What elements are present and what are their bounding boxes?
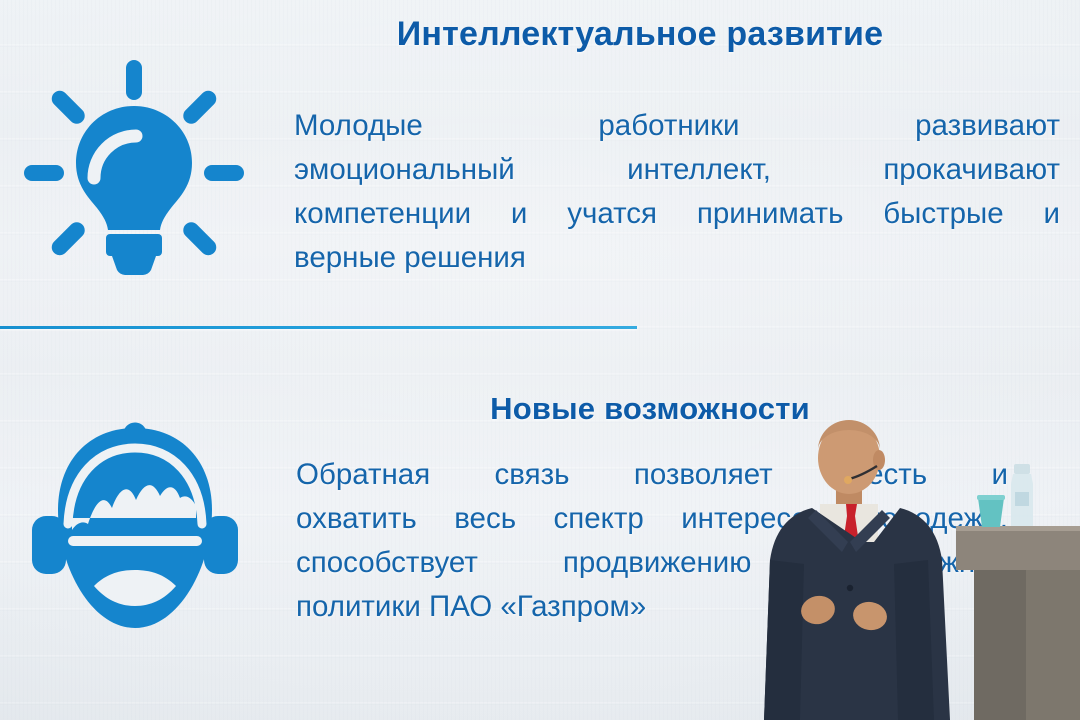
body-line: эмоциональный интеллект, прокачивают bbox=[294, 148, 1060, 192]
body-line: Обратная связь позволяет учесть и bbox=[296, 453, 1008, 497]
section-title-new-opportunities: Новые возможности bbox=[300, 391, 1000, 427]
body-line: компетенции и учатся принимать быстрые и bbox=[294, 192, 1060, 236]
lightbulb-icon bbox=[22, 58, 246, 288]
section-body-new-opportunities: Обратная связь позволяет учесть и охвати… bbox=[296, 453, 1008, 629]
body-line: охватить весь спектр интересов молодежи, bbox=[296, 497, 1008, 541]
slide-screenshot: Интеллектуальное развитие Молодые работн… bbox=[0, 0, 1080, 720]
body-line: Молодые работники развивают bbox=[294, 104, 1060, 148]
section-divider bbox=[0, 326, 637, 329]
section-title-intellectual-development: Интеллектуальное развитие bbox=[280, 15, 1000, 54]
section-body-intellectual-development: Молодые работники развивают эмоциональны… bbox=[294, 104, 1060, 280]
body-line: способствует продвижению молодежной bbox=[296, 541, 1008, 585]
presentation-slide: Интеллектуальное развитие Молодые работн… bbox=[0, 0, 1080, 720]
vr-headset-head-icon bbox=[24, 418, 246, 638]
body-line: верные решения bbox=[294, 236, 1060, 280]
body-line: политики ПАО «Газпром» bbox=[296, 585, 1008, 629]
